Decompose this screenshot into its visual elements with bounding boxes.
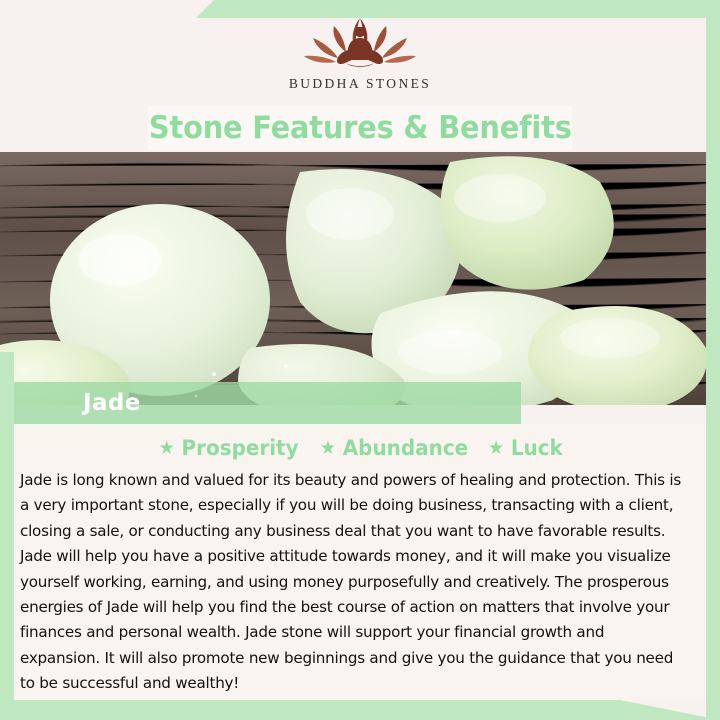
page-title: Stone Features & Benefits [149, 110, 572, 146]
benefit-item-abundance: ★ Abundance [320, 436, 468, 460]
decorative-frame-right [706, 0, 720, 720]
lotus-meditation-logo-icon [296, 12, 424, 74]
benefit-label: Abundance [343, 436, 468, 460]
star-icon: ★ [159, 439, 175, 458]
star-icon: ★ [320, 439, 336, 458]
star-icon: ★ [488, 439, 504, 458]
benefit-label: Luck [511, 436, 563, 460]
stone-description: Jade is long known and valued for its be… [20, 468, 688, 697]
decorative-frame-left [0, 352, 14, 720]
decorative-frame-bottom [0, 700, 720, 720]
stone-photo [0, 152, 720, 405]
benefits-row: ★ Prosperity ★ Abundance ★ Luck [14, 430, 706, 466]
description-panel: ★ Prosperity ★ Abundance ★ Luck Jade is … [14, 424, 706, 700]
benefit-item-luck: ★ Luck [488, 436, 563, 460]
title-banner: Stone Features & Benefits [148, 106, 572, 150]
infographic-page: BUDDHA STONES Stone Features & Benefits [0, 0, 720, 720]
stone-name-band: Jade [14, 382, 521, 424]
brand-logo-area: BUDDHA STONES [0, 12, 720, 104]
stone-name: Jade [83, 390, 141, 416]
benefit-item-prosperity: ★ Prosperity [159, 436, 299, 460]
stone-photo-image [0, 152, 720, 405]
benefit-label: Prosperity [181, 436, 298, 460]
brand-name: BUDDHA STONES [289, 76, 431, 92]
